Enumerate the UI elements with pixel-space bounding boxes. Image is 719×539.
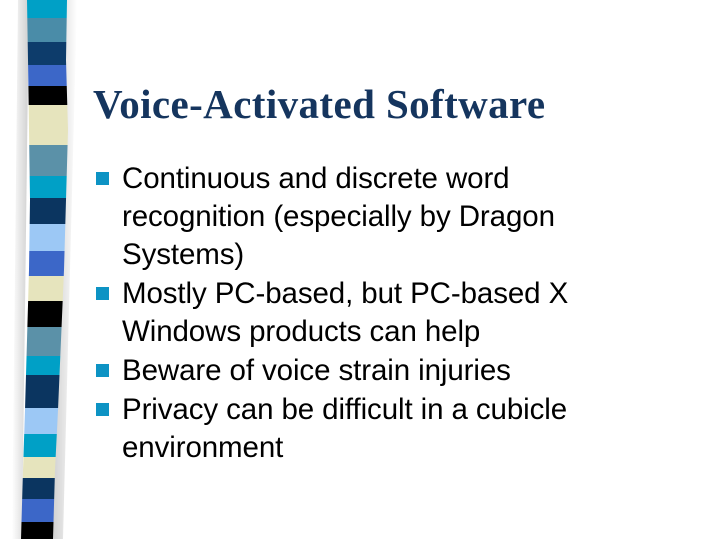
presentation-slide: Voice-Activated Software Continuous and … xyxy=(0,0,719,539)
square-bullet-icon xyxy=(96,172,109,185)
square-bullet-icon xyxy=(96,287,109,300)
bullet-text: Privacy can be difficult in a cubicle en… xyxy=(122,391,656,467)
list-item: Continuous and discrete word recognition… xyxy=(96,160,656,274)
square-bullet-icon xyxy=(96,364,109,377)
list-item: Mostly PC-based, but PC-based X Windows … xyxy=(96,275,656,351)
square-bullet-icon xyxy=(96,403,109,416)
bullet-text: Mostly PC-based, but PC-based X Windows … xyxy=(122,275,656,351)
list-item: Privacy can be difficult in a cubicle en… xyxy=(96,391,656,467)
bullet-text: Continuous and discrete word recognition… xyxy=(122,160,656,274)
vertical-color-stripe-decoration xyxy=(0,0,90,539)
bullet-text: Beware of voice strain injuries xyxy=(122,352,656,390)
slide-title: Voice-Activated Software xyxy=(93,79,693,129)
list-item: Beware of voice strain injuries xyxy=(96,352,656,390)
bullet-list: Continuous and discrete word recognition… xyxy=(96,160,656,468)
